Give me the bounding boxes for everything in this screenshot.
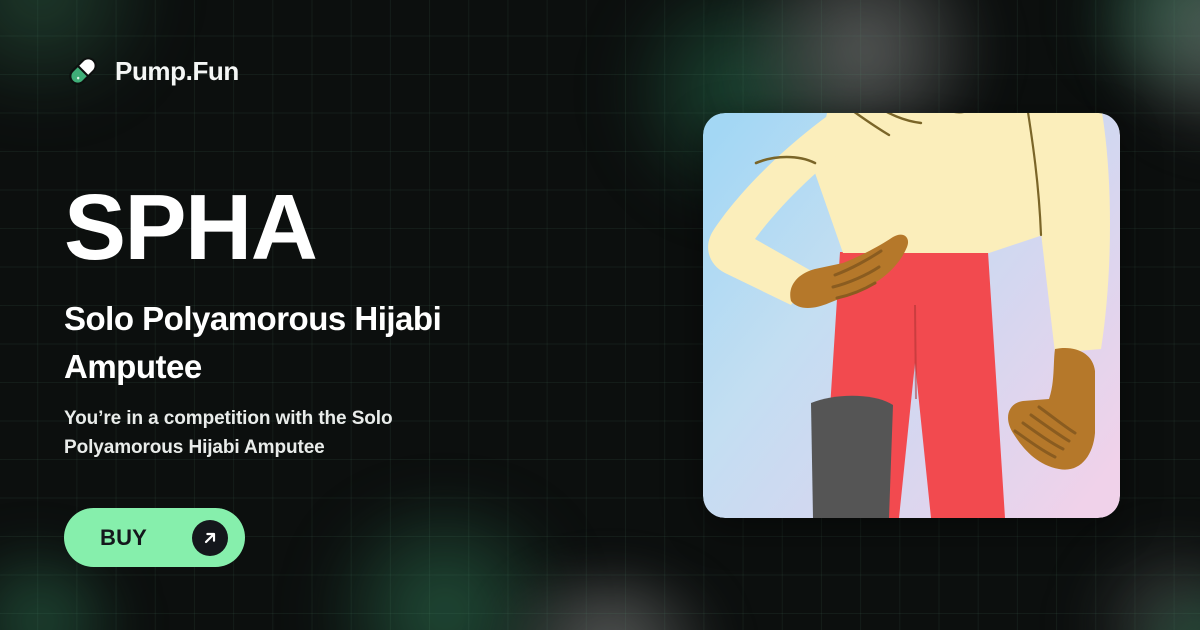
token-artwork-illustration [703, 113, 1120, 518]
pumpfun-token-share-card: Pump.Fun SPHA Solo Polyamorous Hijabi Am… [0, 0, 1200, 630]
token-name: Solo Polyamorous Hijabi Amputee [64, 295, 584, 391]
buy-button-label: BUY [100, 527, 192, 549]
token-ticker: SPHA [64, 181, 316, 274]
pill-capsule-icon [64, 52, 102, 90]
brand-logo[interactable]: Pump.Fun [64, 52, 239, 90]
brand-name-label: Pump.Fun [115, 58, 239, 84]
content-column: Pump.Fun SPHA Solo Polyamorous Hijabi Am… [64, 0, 684, 630]
token-artwork-card[interactable] [703, 113, 1120, 518]
arrow-up-right-icon [192, 520, 228, 556]
background-glow-gray-bottom-right [1080, 540, 1200, 630]
background-glow-gray-top-right [1110, 0, 1200, 140]
buy-button[interactable]: BUY [64, 508, 245, 567]
background-glow-green-bottom-right [1130, 585, 1200, 630]
background-glow-green-top-right [1065, 0, 1200, 90]
token-description: You’re in a competition with the Solo Po… [64, 405, 514, 462]
